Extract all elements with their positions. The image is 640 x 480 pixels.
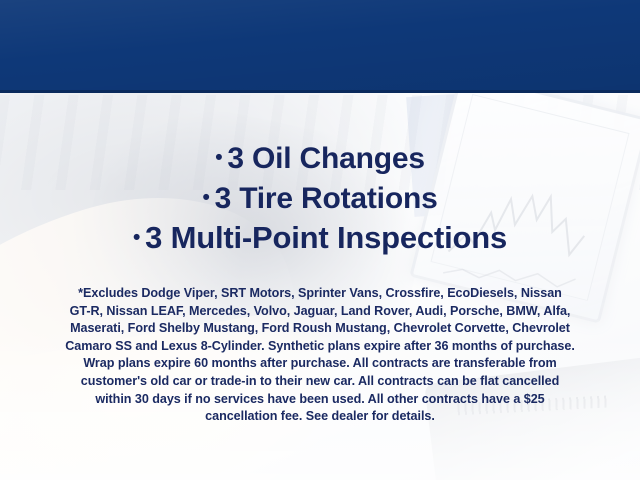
disclaimer-line: customer's old car or trade-in to their …	[34, 373, 606, 391]
list-item-label: 3 Tire Rotations	[215, 182, 438, 215]
list-item: •3 Multi-Point Inspections	[0, 218, 640, 257]
header-band	[0, 0, 640, 93]
extracare-package-ad: ExtraCare Package* •3 Oil Changes •3 Tir…	[0, 0, 640, 480]
header-sheen	[0, 0, 640, 93]
benefits-list: •3 Oil Changes •3 Tire Rotations •3 Mult…	[0, 138, 640, 257]
disclaimer-line: Maserati, Ford Shelby Mustang, Ford Rous…	[34, 320, 606, 338]
disclaimer-text: *Excludes Dodge Viper, SRT Motors, Sprin…	[34, 285, 606, 426]
disclaimer-line: Camaro SS and Lexus 8-Cylinder. Syntheti…	[34, 338, 606, 356]
disclaimer-line: Wrap plans expire 60 months after purcha…	[34, 355, 606, 373]
list-item: •3 Tire Rotations	[0, 178, 640, 218]
disclaimer-line: cancellation fee. See dealer for details…	[34, 408, 606, 426]
disclaimer-line: within 30 days if no services have been …	[34, 391, 606, 409]
list-item-label: 3 Oil Changes	[227, 142, 424, 175]
disclaimer-line: *Excludes Dodge Viper, SRT Motors, Sprin…	[34, 285, 606, 303]
bullet-dot-icon: •	[202, 186, 209, 209]
header-underline	[0, 90, 640, 93]
bullet-dot-icon: •	[215, 146, 222, 169]
bullet-dot-icon: •	[133, 226, 140, 249]
list-item: •3 Oil Changes	[0, 138, 640, 178]
disclaimer-line: GT-R, Nissan LEAF, Mercedes, Volvo, Jagu…	[34, 303, 606, 321]
list-item-label: 3 Multi-Point Inspections	[145, 220, 507, 255]
